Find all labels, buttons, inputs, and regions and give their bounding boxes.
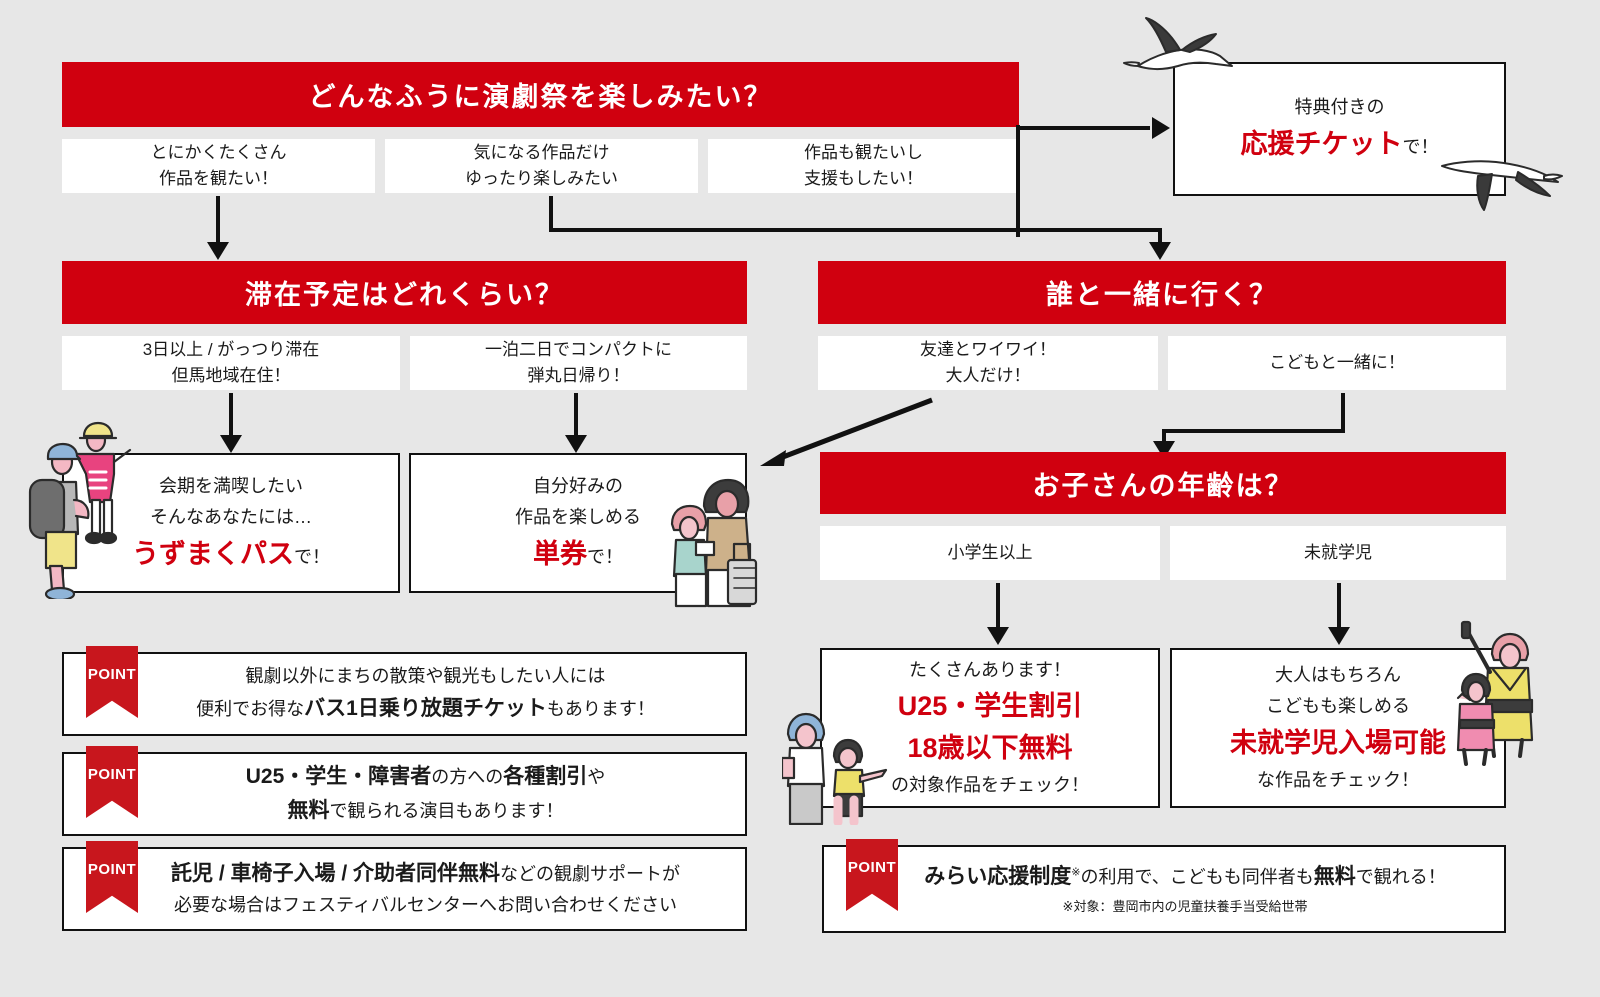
two-travelers-illustration [18,404,133,599]
q1-option-3-line1: 作品も観たいし [804,140,923,166]
preschool-line2: こどもも楽しめる [1266,691,1410,723]
q1-option-1-line2: 作品を観たい！ [159,166,278,192]
q1-option-row: とにかくたくさん 作品を観たい！ 気になる作品だけ ゆったり楽しみたい 作品も観… [62,139,1019,193]
q2-heading-text: 滞在予定はどれくらい？ [245,273,564,312]
flying-stork-icon [1434,148,1564,228]
arrow-head-down [1149,242,1171,260]
q4-option-2[interactable]: 未就学児 [1170,526,1506,580]
question-heading-q3: 誰と一緒に行く？ [818,261,1506,324]
point2-line2-highlight: 無料 [288,799,330,822]
point1-line2-highlight: バス1日乗り放題チケット [304,697,547,720]
q1-option-2-line1: 気になる作品だけ [474,140,610,166]
uzumaku-line1: 会期を満喫したい [159,471,303,503]
kimono-parent-and-child-illustration [1436,616,1536,776]
point1-line2-pre: 便利でお得な [196,699,304,719]
question-heading-q2: 滞在予定はどれくらい？ [62,261,747,324]
point-box-bus-ticket: POINT 観劇以外にまちの散策や観光もしたい人には 便利でお得なバス1日乗り放… [62,652,747,736]
q3-option-1[interactable]: 友達とワイワイ！ 大人だけ！ [818,336,1158,390]
q3-option-2[interactable]: こどもと一緒に！ [1168,336,1506,390]
parent-and-child-pointing-illustration [782,700,892,825]
q3-option-1-line1: 友達とワイワイ！ [920,337,1056,363]
q1-option-2-line2: ゆったり楽しみたい [465,166,618,192]
arrow-head-down [565,435,587,453]
q1-option-2[interactable]: 気になる作品だけ ゆったり楽しみたい [385,139,698,193]
uzumaku-suffix: で！ [294,547,330,567]
point-box-support-text: 託児 / 車椅子入場 / 介助者同伴無料などの観劇サポートが 必要な場合はフェス… [64,857,745,922]
q4-heading-text: お子さんの年齢は？ [1033,464,1294,503]
u25-line1: たくさんあります！ [909,655,1071,687]
q2-option-2[interactable]: 一泊二日でコンパクトに 弾丸日帰り！ [410,336,747,390]
couple-with-luggage-illustration [650,468,760,608]
q1-option-1[interactable]: とにかくたくさん 作品を観たい！ [62,139,375,193]
point3-line2: 必要な場合はフェスティバルセンターへお問い合わせください [174,895,677,915]
u25-highlight-1: U25・学生割引 [898,686,1083,728]
arrow-head-down [1328,627,1350,645]
support-ticket-highlight: 応援チケット [1241,129,1403,159]
point-box-mirai-support: POINT みらい応援制度※の利用で、こどもも同伴者も無料で観れる！ ※対象：豊… [822,845,1506,933]
q4-option-row: 小学生以上 未就学児 [820,526,1506,580]
point2-highlight-1: U25・学生・障害者 [246,765,432,788]
point3-post: などの観劇サポートが [500,864,680,884]
point1-line1: 観劇以外にまちの散策や観光もしたい人には [246,666,606,686]
point-box-mirai-support-text: みらい応援制度※の利用で、こどもも同伴者も無料で観れる！ ※対象：豊岡市内の児童… [824,860,1504,917]
arrow-head-down [220,435,242,453]
q4-option-2-line1: 未就学児 [1304,540,1372,566]
u25-footer: の対象作品をチェック！ [891,770,1089,802]
uzumaku-highlight: うずまくパス [132,539,294,569]
tanken-highlight-line: 単券で！ [533,534,623,576]
question-heading-q1: どんなふうに演劇祭を楽しみたい？ [62,62,1019,127]
arrow-head-down [207,242,229,260]
point4-highlight-2: 無料 [1314,865,1356,888]
tanken-highlight: 単券 [533,539,587,569]
q1-option-3[interactable]: 作品も観たいし 支援もしたい！ [708,139,1019,193]
point-box-discounts: POINT U25・学生・障害者の方への各種割引や 無料で観られる演目もあります… [62,752,747,836]
point4-post: で観れる！ [1356,867,1446,887]
point3-highlight: 託児 / 車椅子入場 / 介助者同伴無料 [171,862,500,885]
u25-highlight-2: 18歳以下無料 [907,728,1072,770]
support-ticket-highlight-line: 応援チケットで！ [1241,124,1439,166]
point2-post: や [587,767,605,787]
point2-line2-post: で観られる演目もあります！ [330,801,564,821]
q1-option-1-line1: とにかくたくさん [151,140,287,166]
q2-option-2-line2: 弾丸日帰り！ [528,363,630,389]
preschool-highlight: 未就学児入場可能 [1230,723,1446,765]
tanken-line1: 自分好みの [533,471,623,503]
flowchart-canvas: どんなふうに演劇祭を楽しみたい？ とにかくたくさん 作品を観たい！ 気になる作品… [0,0,1600,997]
q4-option-1[interactable]: 小学生以上 [820,526,1160,580]
point2-mid: の方への [431,767,503,787]
question-heading-q4: お子さんの年齢は？ [820,452,1506,514]
point4-mid: の利用で、こどもも同伴者も [1080,867,1313,887]
arrow-head-right [1152,117,1170,139]
q3-option-1-line2: 大人だけ！ [946,363,1031,389]
support-ticket-line1: 特典付きの [1295,92,1385,124]
preschool-line1: 大人はもちろん [1275,660,1401,692]
q1-option-3-line2: 支援もしたい！ [804,166,923,192]
tanken-suffix: で！ [587,547,623,567]
q2-option-1-line2: 但馬地域在住！ [172,363,291,389]
preschool-footer: な作品をチェック！ [1257,765,1419,797]
q2-option-row: 3日以上 / がっつり滞在 但馬地域在住！ 一泊二日でコンパクトに 弾丸日帰り！ [62,336,747,390]
q2-option-1[interactable]: 3日以上 / がっつり滞在 但馬地域在住！ [62,336,400,390]
uzumaku-line2: そんなあなたには… [150,502,312,534]
point-box-support: POINT 託児 / 車椅子入場 / 介助者同伴無料などの観劇サポートが 必要な… [62,847,747,931]
point1-line2-post: もあります！ [547,699,655,719]
point2-highlight-2: 各種割引 [503,765,587,788]
q3-option-row: 友達とワイワイ！ 大人だけ！ こどもと一緒に！ [818,336,1506,390]
uzumaku-highlight-line: うずまくパスで！ [132,534,330,576]
point4-note: ※対象：豊岡市内の児童扶養手当受給世帯 [880,896,1490,917]
q4-option-1-line1: 小学生以上 [948,540,1033,566]
q3-heading-text: 誰と一緒に行く？ [1046,273,1278,312]
point-box-bus-ticket-text: 観劇以外にまちの散策や観光もしたい人には 便利でお得なバス1日乗り放題チケットも… [64,662,745,727]
flying-stork-icon [1120,8,1240,98]
q3-option-2-line1: こどもと一緒に！ [1269,350,1405,376]
q2-option-2-line1: 一泊二日でコンパクトに [485,337,672,363]
q2-option-1-line1: 3日以上 / がっつり滞在 [143,337,320,363]
point-box-discounts-text: U25・学生・障害者の方への各種割引や 無料で観られる演目もあります！ [64,760,745,828]
point4-highlight-1: みらい応援制度 [924,865,1071,888]
q1-heading-text: どんなふうに演劇祭を楽しみたい？ [309,75,773,114]
arrow-head-down [987,627,1009,645]
tanken-line2: 作品を楽しめる [515,502,641,534]
